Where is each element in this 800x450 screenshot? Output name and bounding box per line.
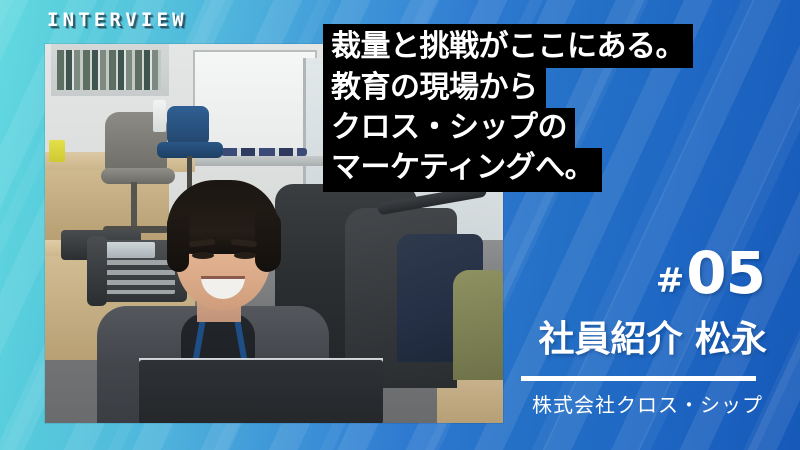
interview-banner: INTERVIEW <box>0 0 800 450</box>
headline-block: 裁量と挑戦がここにある。 教育の現場から クロス・シップの マーケティングへ。 <box>323 24 693 192</box>
photo-monitor <box>139 360 383 423</box>
photo-chair-blue-back <box>167 106 209 146</box>
photo-phone-keypad <box>101 260 175 294</box>
photo-markers <box>221 148 307 156</box>
photo-yellow-cup <box>49 140 65 162</box>
photo-person-hair-left <box>167 212 189 272</box>
person-title: 社員紹介 松永 <box>538 322 767 358</box>
headline-line-1: 裁量と挑戦がここにある。 <box>323 24 693 68</box>
photo-phone-screen <box>99 242 155 258</box>
photo-chair-grey-seat <box>101 168 175 184</box>
headline-line-3: クロス・シップの <box>323 108 575 148</box>
issue-hash-symbol: # <box>656 264 685 298</box>
photo-books <box>57 50 161 90</box>
photo-olive-coat <box>453 270 503 380</box>
photo-person-eye-right <box>234 252 256 259</box>
interview-kicker-label: INTERVIEW <box>47 9 188 31</box>
photo-bottle <box>153 100 166 132</box>
photo-phone-handset <box>87 236 107 306</box>
headline-line-2: 教育の現場から <box>323 68 546 108</box>
photo-person-eye-left <box>192 252 214 259</box>
divider-rule <box>521 376 756 381</box>
headline-line-4: マーケティングへ。 <box>323 148 602 192</box>
photo-chair-grey-leg <box>131 182 137 230</box>
company-name: 株式会社クロス・シップ <box>532 389 763 418</box>
issue-number-digits: 05 <box>686 244 765 302</box>
photo-person-hair-right <box>255 210 281 272</box>
issue-number: # 05 <box>656 244 765 302</box>
